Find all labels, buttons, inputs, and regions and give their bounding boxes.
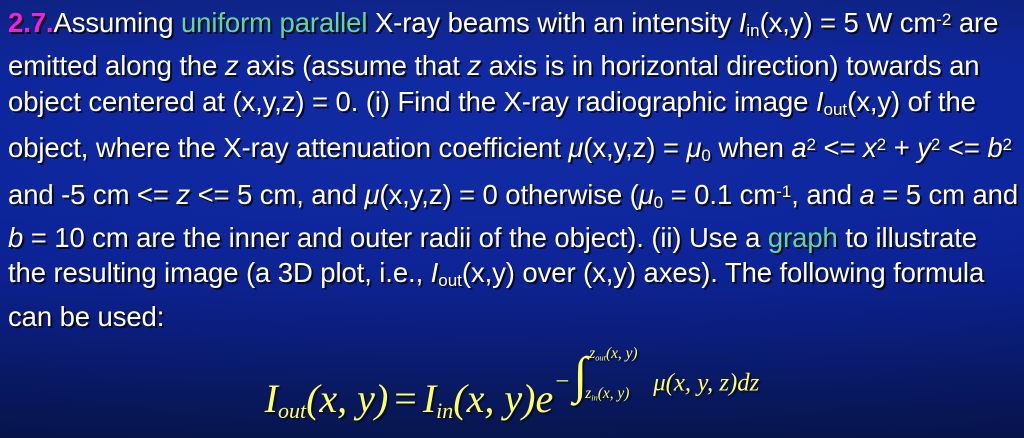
formula-exp-base: e: [535, 376, 553, 421]
subscript-out: out: [823, 100, 847, 119]
integral-upper-limit: zout(x, y): [589, 345, 637, 363]
text-seg-8: (x,y,z) =: [583, 132, 686, 163]
symbol-b-2: b: [8, 222, 23, 253]
symbol-z-2: z: [467, 50, 481, 81]
superscript-2-y: 2: [931, 135, 940, 154]
text-seg-15: (x,y,z) = 0 otherwise (: [379, 179, 638, 210]
attenuation-formula: Iout(x, y)=Iin(x, y)e−∫zout(x, y)zin(x, …: [0, 362, 1024, 424]
integral-lower-subscript: in: [591, 392, 598, 402]
question-number: 2.7.: [8, 7, 53, 38]
formula-exponent: −∫zout(x, y)zin(x, y)μ(x, y, z)dz: [553, 358, 759, 412]
text-seg-5: axis (assume that: [238, 50, 467, 81]
text-seg-11: +: [886, 132, 917, 163]
superscript-2-a: 2: [807, 135, 816, 154]
superscript-2-x: 2: [877, 135, 886, 154]
symbol-mu-4: μ: [639, 179, 654, 210]
superscript-2-b: 2: [1003, 135, 1012, 154]
subscript-zero-1: 0: [701, 146, 710, 165]
slide-canvas: 2.7.Assuming uniform parallel X-ray beam…: [0, 0, 1024, 438]
highlight-graph: graph: [768, 222, 838, 253]
symbol-mu-2: μ: [686, 132, 701, 163]
superscript-minus-2: -2: [936, 10, 951, 29]
integral-upper-subscript: out: [595, 352, 606, 362]
integral-lower-args: (x, y): [598, 385, 630, 402]
text-seg-12: <=: [940, 132, 987, 163]
subscript-out-2: out: [438, 271, 462, 290]
text-seg-2: X-ray beams with an intensity: [367, 7, 738, 38]
text-seg-1: Assuming: [53, 7, 180, 38]
text-seg-13: and -5 cm <=: [8, 179, 176, 210]
symbol-y: y: [917, 132, 931, 163]
formula-integrand-args: (x, y, z): [666, 370, 738, 397]
subscript-zero-2: 0: [654, 192, 663, 211]
symbol-a-1: a: [791, 132, 806, 163]
question-body: 2.7.Assuming uniform parallel X-ray beam…: [8, 2, 1020, 334]
formula-integrand-mu: μ: [653, 370, 665, 397]
text-seg-19: = 10 cm are the inner and outer radii of…: [23, 222, 768, 253]
highlight-uniform-parallel: uniform parallel: [181, 7, 367, 38]
symbol-mu-1: μ: [568, 132, 583, 163]
formula-equals: =: [388, 376, 423, 421]
formula-rhs-symbol: I: [423, 376, 436, 421]
formula-integral: ∫zout(x, y)zin(x, y): [567, 358, 653, 412]
text-seg-17: , and: [791, 179, 859, 210]
formula-rhs-subscript: in: [436, 398, 453, 423]
text-seg-14: <= 5 cm, and: [190, 179, 364, 210]
formula-lhs: Iout(x, y)=Iin(x, y)e: [265, 375, 554, 424]
text-seg-16: = 0.1 cm: [663, 179, 776, 210]
formula-lhs-args: (x, y): [306, 376, 388, 421]
symbol-b-1: b: [987, 132, 1002, 163]
formula-rhs-args: (x, y): [453, 376, 535, 421]
formula-lhs-symbol: I: [265, 376, 278, 421]
superscript-minus-1: -1: [776, 182, 791, 201]
text-seg-9: when: [711, 132, 791, 163]
integral-lower-limit: zin(x, y): [585, 385, 629, 403]
formula-lhs-subscript: out: [278, 398, 306, 423]
symbol-x: x: [863, 132, 877, 163]
formula-differential: dz: [737, 370, 759, 397]
text-seg-18: = 5 cm and: [875, 179, 1018, 210]
text-seg-3: (x,y) = 5 W cm: [760, 7, 937, 38]
symbol-mu-3: μ: [364, 179, 379, 210]
symbol-a-2: a: [859, 179, 874, 210]
integral-upper-args: (x, y): [606, 345, 638, 362]
symbol-z-3: z: [176, 179, 190, 210]
subscript-in: in: [746, 21, 759, 40]
symbol-z-1: z: [225, 50, 239, 81]
text-seg-10: <=: [816, 132, 863, 163]
question-number-text: 2.7.: [8, 7, 53, 38]
